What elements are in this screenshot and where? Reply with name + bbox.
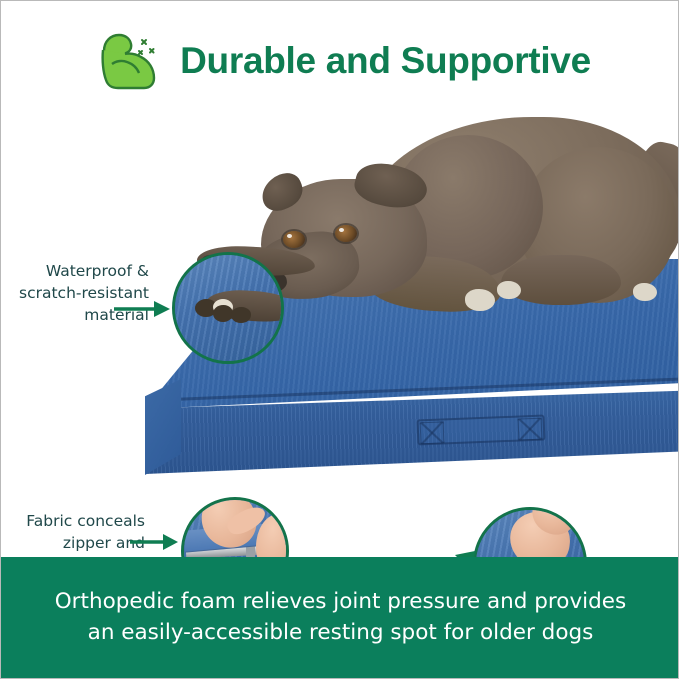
bed-built-in-handle — [417, 415, 546, 446]
callout-circle-built-in-handle — [473, 507, 587, 559]
dog-paw-pad — [465, 289, 495, 311]
dog-paw-pad — [633, 283, 657, 301]
dog-rear-leg — [501, 255, 621, 305]
header: Durable and Supportive — [1, 15, 679, 107]
callout-line: Waterproof & — [19, 260, 149, 282]
bottom-banner: Orthopedic foam relieves joint pressure … — [1, 557, 679, 678]
banner-text: Orthopedic foam relieves joint pressure … — [41, 587, 640, 648]
dog-lying-on-bed — [251, 107, 679, 337]
callout-line: Fabric conceals — [13, 510, 145, 532]
page-title: Durable and Supportive — [180, 40, 591, 82]
banner-line: an easily-accessible resting spot for ol… — [55, 618, 626, 649]
flexed-bicep-icon — [90, 24, 164, 98]
banner-line: Orthopedic foam relieves joint pressure … — [55, 587, 626, 618]
dog-eye-right — [335, 225, 357, 242]
product-photo-stage: Waterproof & scratch-resistant material … — [1, 107, 679, 559]
callout-circle-concealed-zipper — [181, 497, 289, 559]
arrow-right-icon-zipper — [130, 532, 180, 552]
callout-label-zipper: Fabric conceals zipper and repels water — [13, 510, 145, 559]
dog-toe — [213, 305, 233, 322]
product-infographic: Durable and Supportive — [0, 0, 679, 679]
dog-paw-pad — [497, 281, 521, 299]
dog-toe — [231, 307, 251, 323]
arrow-right-icon-waterproof — [114, 299, 172, 319]
callout-line: zipper and — [13, 532, 145, 554]
callout-circle-waterproof-fabric — [172, 252, 284, 364]
